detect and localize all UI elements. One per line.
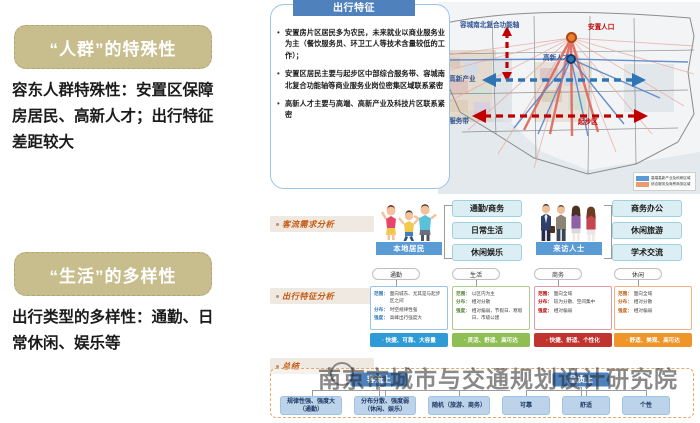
detail-key: 范围： [618, 290, 632, 297]
detail-card-business: 范围： 面向全域 分布： 较为分散、空间集中 强度： 相对偏弱 [534, 286, 612, 330]
legend-swatch-orange [636, 182, 649, 187]
map-geometry [438, 2, 700, 194]
business-people-icon [536, 200, 602, 242]
detail-line: 分布： 相对分散 [456, 298, 526, 305]
detail-key: 强度： [374, 314, 388, 321]
demand-chip-commute-business[interactable]: 通勤/商务 [452, 200, 522, 217]
detail-value: 相对分散 [472, 298, 490, 305]
detail-key: 范围： [456, 290, 470, 297]
detail-value: 相对偏弱，节假日、寒假日、市级公建 [472, 307, 526, 322]
detail-line: 强度： 相对偏弱 [538, 307, 608, 314]
legend-swatch-blue [636, 176, 649, 181]
detail-line: 分布： 时空规律性强 [374, 306, 444, 313]
trip-feature-title: 出行特征 [293, 0, 415, 16]
slide-diagram: 容城南北复合功能轴 安置人口 高新人才 高端高新产业 综合服务带 起步区 高端高… [262, 0, 700, 423]
summary-item-comfortable: 舒适 [562, 396, 610, 415]
map-label-north-south-axis: 容城南北复合功能轴 [460, 19, 519, 29]
brace-visitor [604, 205, 612, 259]
watermark-logo-icon [330, 362, 354, 386]
detail-value: 相对偏弱 [554, 307, 572, 314]
detail-value: 以区内为主 [472, 290, 495, 297]
map-legend: 高端高新产业及科研区域 综合服务及商贸商务区域 [633, 172, 696, 191]
badge-crowd-specialty: “人群”的特殊性 [14, 25, 212, 69]
category-pill-business: 商务 [534, 268, 582, 280]
list-item: • 安置房片区居民多为农民，未来就业以商业服务业为主（餐饮服务员、环卫工人等技术… [277, 27, 445, 61]
conclusion-bar-business: · 快捷、舒适、个性化 [534, 333, 612, 347]
legend-item: 高端高新产业及科研区域 [636, 176, 693, 181]
map-node-resettlement-population [566, 32, 577, 43]
map-label-resettlement-population: 安置人口 [588, 21, 614, 31]
detail-card-leisure: 范围： 面向全域 分布： 相对分散 强度： 相对偏弱 [614, 286, 692, 330]
local-residents-caption: 本地居民 [376, 242, 442, 255]
detail-key: 强度： [618, 307, 632, 314]
detail-value: 面向城东、尤其是与起步区之间 [390, 290, 444, 305]
detail-line: 分布： 相对分散 [618, 298, 688, 305]
detail-line: 强度： 相对偏弱，节假日、寒假日、市级公建 [456, 307, 526, 322]
detail-line: 强度： 高峰出行强度大 [374, 314, 444, 321]
detail-key: 分布： [618, 298, 632, 305]
crowd-specialty-description: 容东人群特殊性：安置区保障房居民、高新人才；出行特征差距较大 [12, 78, 227, 156]
detail-key: 强度： [456, 307, 470, 322]
summary-item-reliable: 可靠 [502, 396, 550, 415]
left-summary-column: “人群”的特殊性 容东人群特殊性：安置区保障房居民、高新人才；出行特征差距较大 … [0, 0, 262, 423]
bullet-text: 安置房片区居民多为农民，未来就业以商业服务业为主（餐饮服务员、环卫工人等技术含量… [285, 27, 445, 61]
detail-value: 相对分散 [634, 298, 652, 305]
detail-value: 较为分散、空间集中 [554, 298, 595, 305]
detail-card-commute: 范围： 面向城东、尤其是与起步区之间 分布： 时空规律性强 强度： 高峰出行强度… [370, 286, 448, 330]
detail-value: 面向全域 [554, 290, 572, 297]
detail-key: 范围： [374, 290, 388, 305]
bullet-dot-icon: • [277, 98, 282, 121]
conclusion-bar-life: · 灵活、舒适、高可达 [452, 333, 530, 347]
connector-line [581, 387, 582, 396]
tag-dot-icon [276, 295, 279, 298]
detail-line: 强度： 相对偏弱 [618, 307, 688, 314]
category-pill-leisure: 休闲 [614, 268, 662, 280]
conclusion-bar-leisure: · 舒适、美观、高可达 [614, 333, 692, 347]
legend-label: 综合服务及商贸商务区域 [651, 182, 691, 187]
connector-line [379, 387, 380, 396]
regional-map: 容城南北复合功能轴 安置人口 高新人才 高端高新产业 综合服务带 起步区 高端高… [438, 2, 700, 194]
visitors-illustration [536, 200, 602, 242]
map-label-start-zone: 起步区 [578, 116, 598, 126]
trip-feature-card: 出行特征 • 安置房片区居民多为农民，未来就业以商业服务业为主（餐饮服务员、环卫… [270, 4, 450, 189]
detail-value: 面向全域 [634, 290, 652, 297]
badge-life-diversity: “生活”的多样性 [14, 252, 212, 296]
summary-item-regular-commute: 规律性强、强度大（通勤） [280, 396, 342, 415]
summary-item-random-tourism: 随机（旅游、商务） [428, 396, 490, 415]
summary-header-passenger-flow: 客流上 [350, 372, 408, 387]
group-visitors: 来访人士 [536, 200, 602, 255]
section-tag-trip-feature-analysis: 出行特征分析 [270, 288, 374, 304]
detail-key: 范围： [538, 290, 552, 297]
legend-label: 高端高新产业及科研区域 [651, 176, 691, 181]
category-pill-commute: 通勤 [372, 268, 420, 280]
demand-chip-daily-life[interactable]: 日常生活 [452, 222, 522, 239]
list-item: • 高新人才主要与高端、高新产业及科技片区联系紧密 [277, 98, 445, 121]
bullet-text: 高新人才主要与高端、高新产业及科技片区联系紧密 [285, 98, 445, 121]
demand-chip-academic-exchange[interactable]: 学术交流 [612, 244, 682, 261]
summary-item-personalized: 个性 [622, 396, 670, 415]
local-residents-illustration [376, 200, 442, 242]
detail-value: 高峰出行强度大 [390, 314, 422, 321]
section-tag-demand-analysis: 客流需求分析 [270, 216, 374, 232]
connector-line [312, 390, 510, 391]
demand-chip-leisure-entertainment[interactable]: 休闲娱乐 [452, 244, 522, 261]
map-label-hi-tech-talent: 高新人才 [543, 52, 569, 62]
detail-line: 范围： 面向全域 [538, 290, 608, 297]
conclusion-bar-commute: · 快捷、可靠、大容量 [370, 333, 448, 347]
bullet-text: 安置区居民主要与起步区中部综合服务带、容城南北复合功能轴等商业服务业岗位密集区域… [285, 68, 445, 91]
bullet-dot-icon: • [277, 27, 282, 61]
tag-label: 客流需求分析 [282, 218, 334, 230]
tag-label: 出行特征分析 [282, 290, 334, 302]
list-item: • 安置区居民主要与起步区中部综合服务带、容城南北复合功能轴等商业服务业岗位密集… [277, 68, 445, 91]
slide-root: “人群”的特殊性 容东人群特殊性：安置区保障房居民、高新人才；出行特征差距较大 … [0, 0, 700, 423]
summary-item-dispersed-leisure: 分布分散、强度弱（休闲、娱乐） [354, 396, 416, 415]
brace-local [444, 205, 452, 259]
demand-chip-leisure-tourism[interactable]: 休闲旅游 [612, 222, 682, 239]
detail-key: 强度： [538, 307, 552, 314]
summary-header-quality: 品质上 [552, 372, 610, 387]
life-diversity-description: 出行类型的多样性：通勤、日常休闲、娱乐等 [12, 305, 227, 357]
detail-key: 分布： [538, 298, 552, 305]
bullet-dot-icon: • [277, 68, 282, 91]
visitors-caption: 来访人士 [536, 242, 602, 255]
group-local-residents: 本地居民 [376, 200, 442, 255]
detail-value: 相对偏弱 [634, 307, 652, 314]
detail-line: 范围： 面向全域 [618, 290, 688, 297]
detail-key: 分布： [374, 306, 388, 313]
family-icon [376, 200, 442, 242]
detail-line: 范围： 以区内为主 [456, 290, 526, 297]
demand-chip-business-office[interactable]: 商务办公 [612, 200, 682, 217]
tag-dot-icon [276, 223, 279, 226]
detail-key: 分布： [456, 298, 470, 305]
trip-feature-bullet-list: • 安置房片区居民多为农民，未来就业以商业服务业为主（餐饮服务员、环卫工人等技术… [277, 27, 445, 128]
detail-line: 分布： 较为分散、空间集中 [538, 298, 608, 305]
detail-line: 范围： 面向城东、尤其是与起步区之间 [374, 290, 444, 305]
legend-item: 综合服务及商贸商务区域 [636, 182, 693, 187]
detail-card-life: 范围： 以区内为主 分布： 相对分散 强度： 相对偏弱，节假日、寒假日、市级公建 [452, 286, 530, 330]
detail-value: 时空规律性强 [390, 306, 418, 313]
category-pill-life: 生活 [452, 268, 500, 280]
